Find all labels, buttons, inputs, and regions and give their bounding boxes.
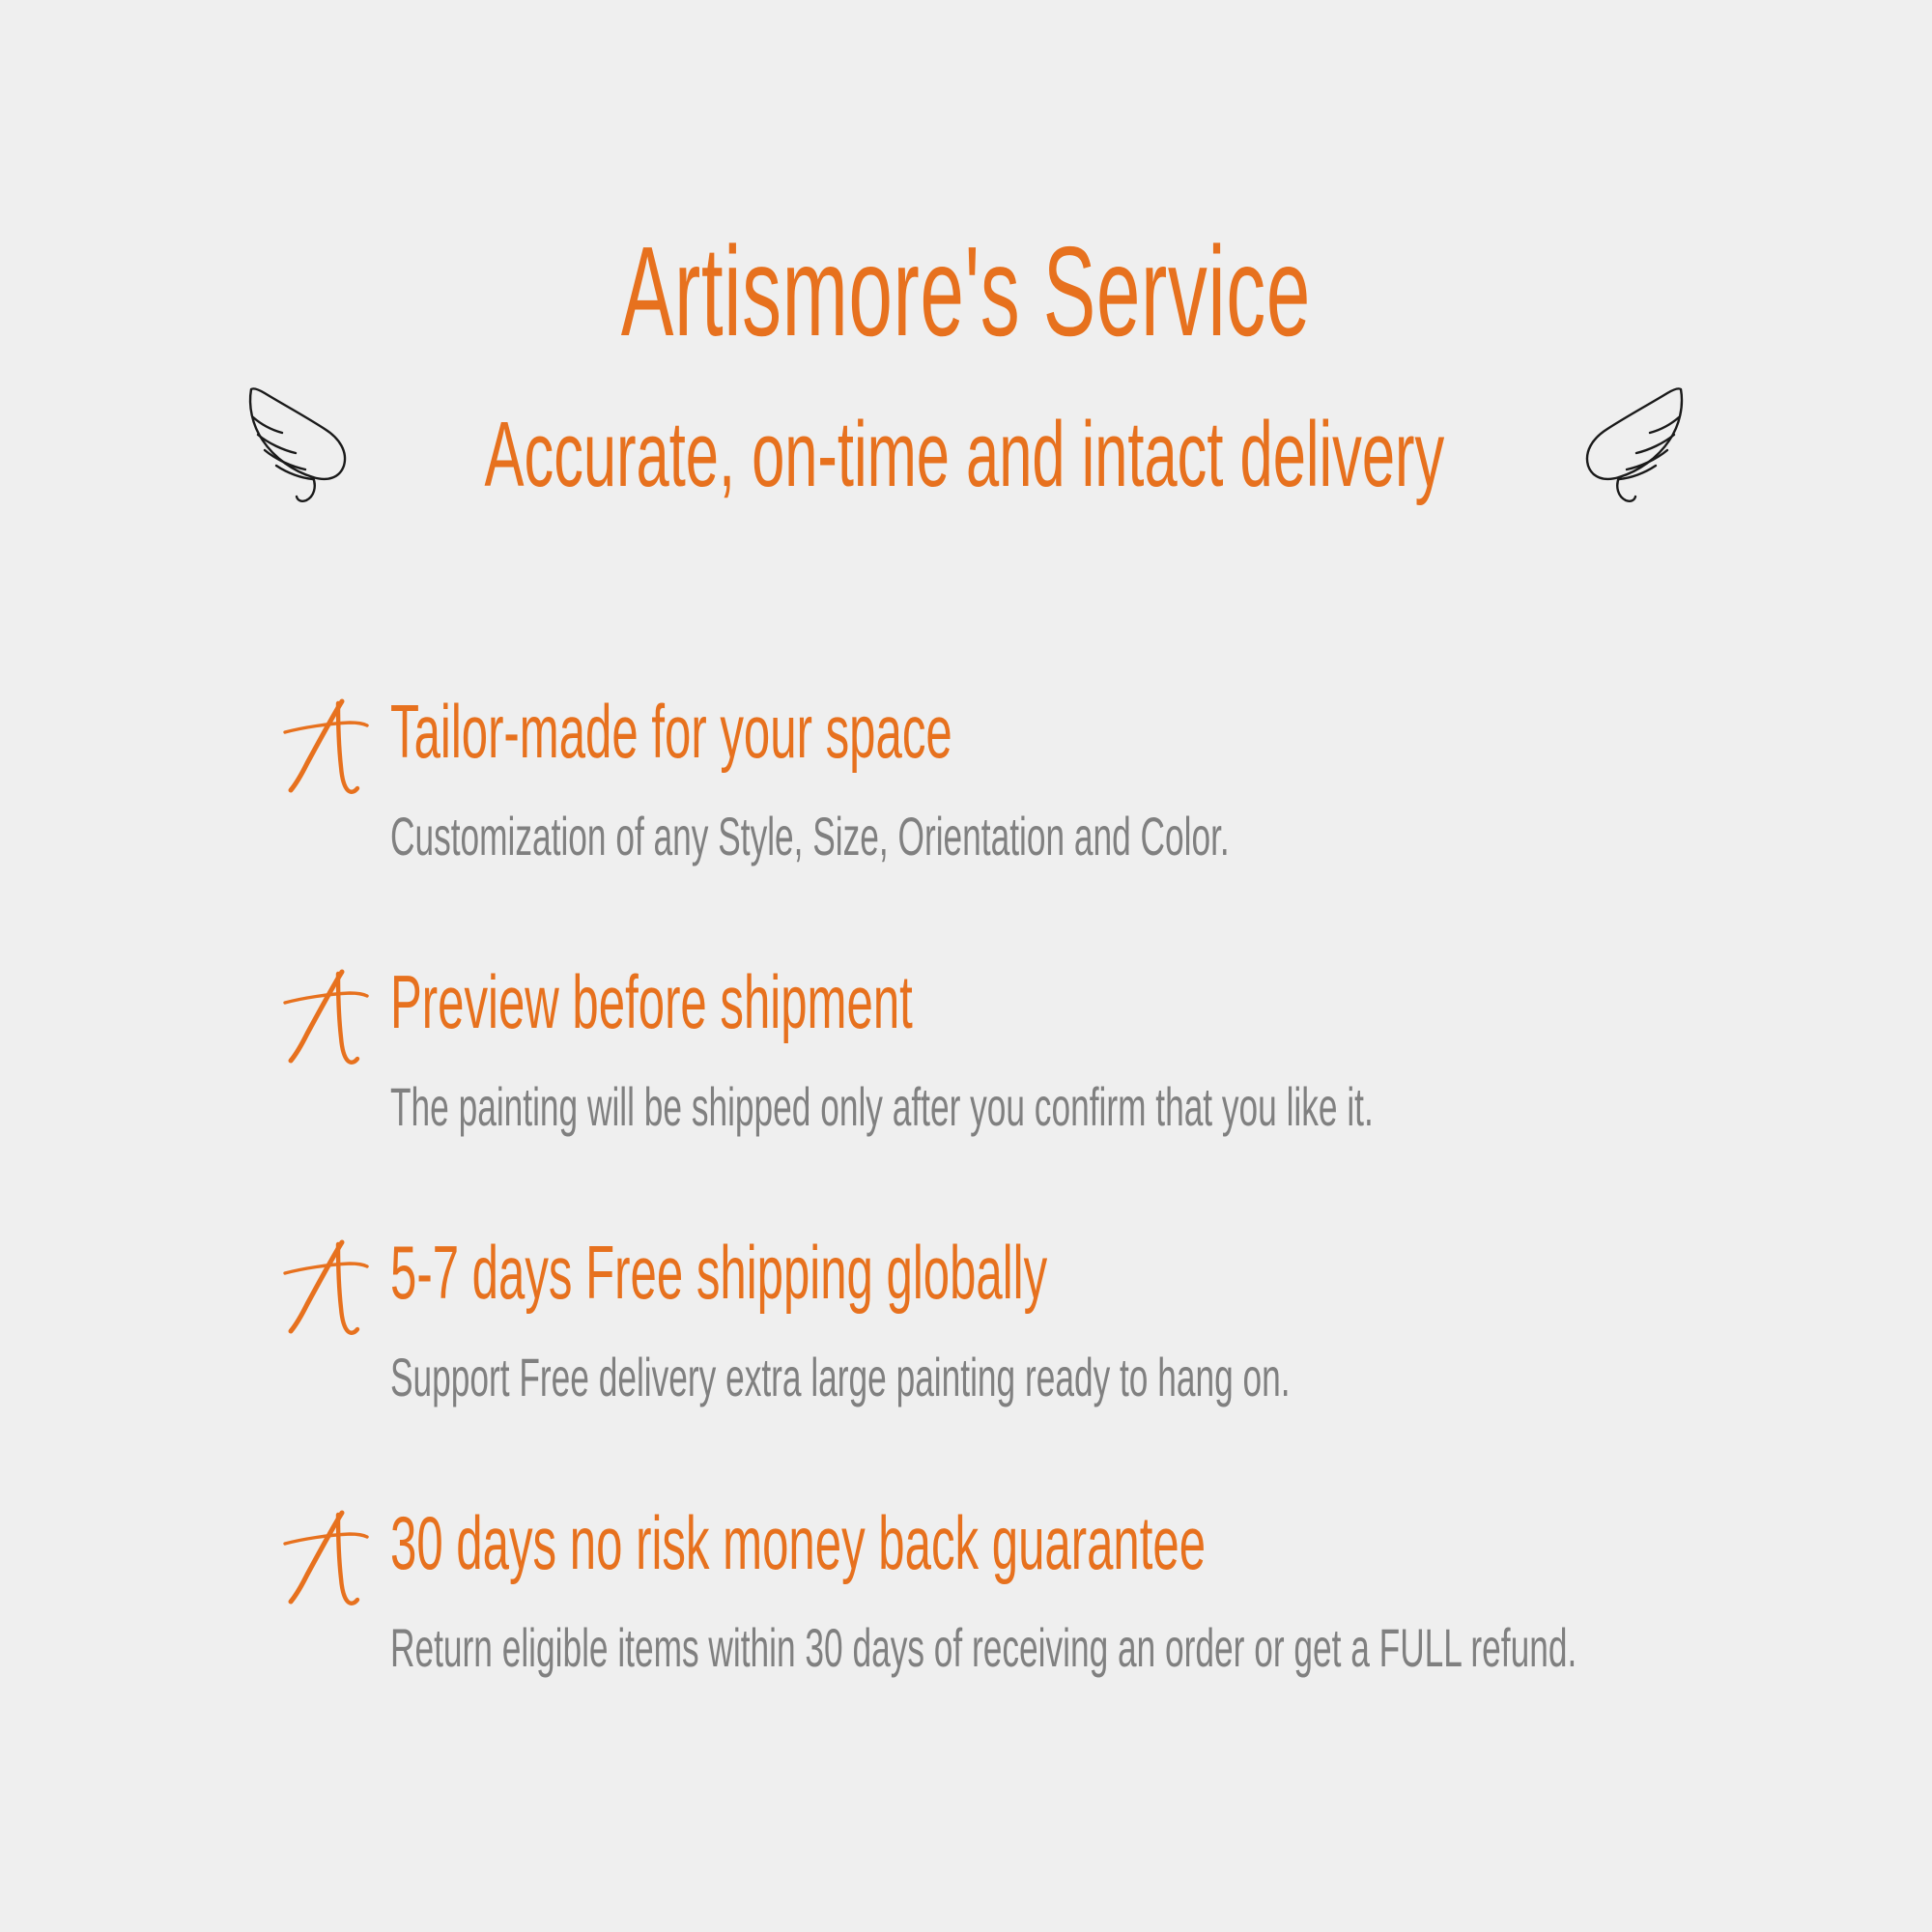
service-info-page: Artismore's Service Accurate, on-time an… (0, 0, 1932, 1932)
feature-item-shipping: 5-7 days Free shipping globally Support … (282, 1235, 1847, 1505)
feature-body: 30 days no risk money back guarantee Ret… (390, 1505, 1847, 1675)
feature-description: Support Free delivery extra large painti… (390, 1350, 1308, 1405)
feature-body: Preview before shipment The painting wil… (390, 964, 1847, 1134)
subtitle-text: Accurate, on-time and intact delivery (484, 409, 1444, 501)
feature-title: Preview before shipment (390, 964, 1308, 1039)
angel-wing-left-icon (240, 406, 359, 504)
artismore-a-monogram-icon (282, 1236, 371, 1337)
feature-item-money-back: 30 days no risk money back guarantee Ret… (282, 1505, 1847, 1776)
feature-description: The painting will be shipped only after … (390, 1080, 1308, 1134)
artismore-a-monogram-icon (282, 696, 371, 796)
angel-wing-right-icon (1569, 406, 1692, 504)
feature-description: Return eligible items within 30 days of … (390, 1621, 1308, 1675)
feature-item-preview: Preview before shipment The painting wil… (282, 964, 1847, 1235)
subtitle-row: Accurate, on-time and intact delivery (0, 406, 1932, 504)
feature-description: Customization of any Style, Size, Orient… (390, 810, 1308, 864)
feature-title: Tailor-made for your space (390, 694, 1308, 769)
feature-item-tailor-made: Tailor-made for your space Customization… (282, 694, 1847, 964)
feature-list: Tailor-made for your space Customization… (282, 694, 1847, 1776)
page-title: Artismore's Service (621, 228, 1311, 355)
feature-title: 5-7 days Free shipping globally (390, 1235, 1308, 1310)
artismore-a-monogram-icon (282, 1507, 371, 1607)
feature-body: Tailor-made for your space Customization… (390, 694, 1847, 864)
artismore-a-monogram-icon (282, 966, 371, 1066)
feature-title: 30 days no risk money back guarantee (390, 1505, 1308, 1580)
feature-body: 5-7 days Free shipping globally Support … (390, 1235, 1847, 1405)
